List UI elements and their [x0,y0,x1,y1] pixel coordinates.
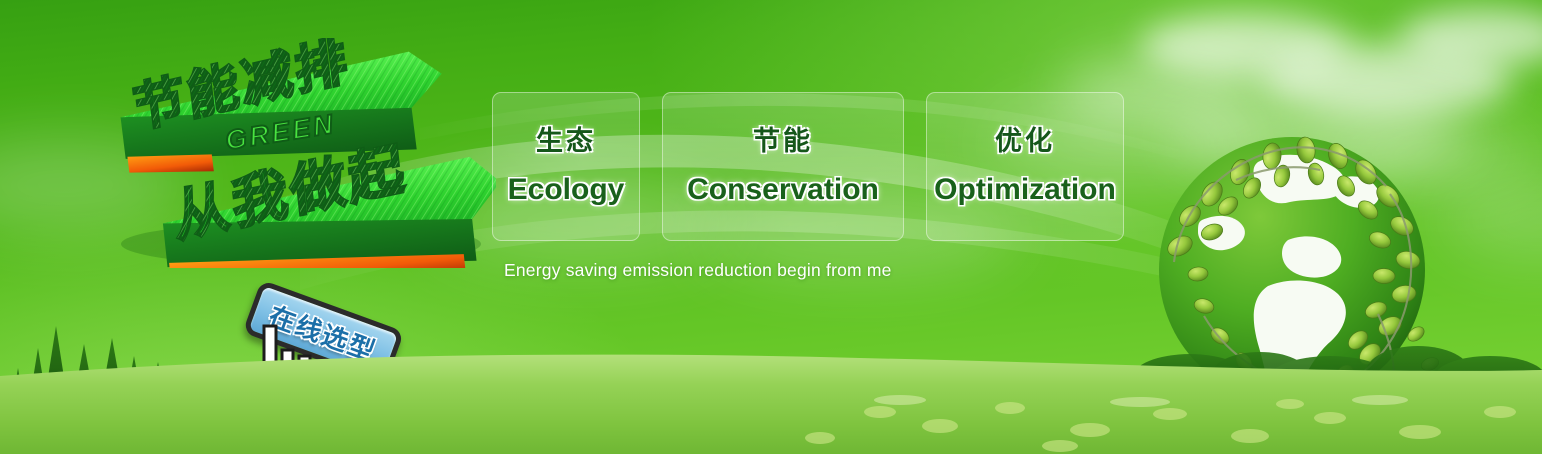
cloud-shape [1140,14,1350,78]
banner-tagline: Energy saving emission reduction begin f… [504,260,892,281]
feature-card-title-cn: 优化 [995,128,1055,155]
pointing-hand-cursor-icon [234,320,320,416]
feature-card-title-cn: 节能 [753,128,813,155]
online-selection-cta[interactable]: 在线选型 [252,272,422,362]
hero-title-artwork: 节能减排 节能减排 GREEN 从我做起 从我做起 [96,38,496,268]
feature-card-optimization[interactable]: 优化 Optimization [926,92,1124,241]
feature-card-conservation[interactable]: 节能 Conservation [662,92,904,241]
feature-card-title-cn: 生态 [536,128,596,155]
hero-3d-title: 节能减排 节能减排 GREEN 从我做起 从我做起 [96,38,496,268]
feature-card-list: 生态 Ecology 节能 Conservation 优化 Optimizati… [492,92,1124,241]
green-energy-banner: 节能减排 节能减排 GREEN 从我做起 从我做起 在线选型 [0,0,1542,454]
feature-card-ecology[interactable]: 生态 Ecology [492,92,640,241]
feature-card-title-en: Optimization [934,175,1116,205]
feature-card-title-en: Ecology [508,175,625,205]
cloud-shape [1262,44,1512,116]
feature-card-title-en: Conservation [687,175,879,205]
leaf-covered-globe-icon [1140,128,1458,434]
cloud-shape [1400,8,1542,66]
